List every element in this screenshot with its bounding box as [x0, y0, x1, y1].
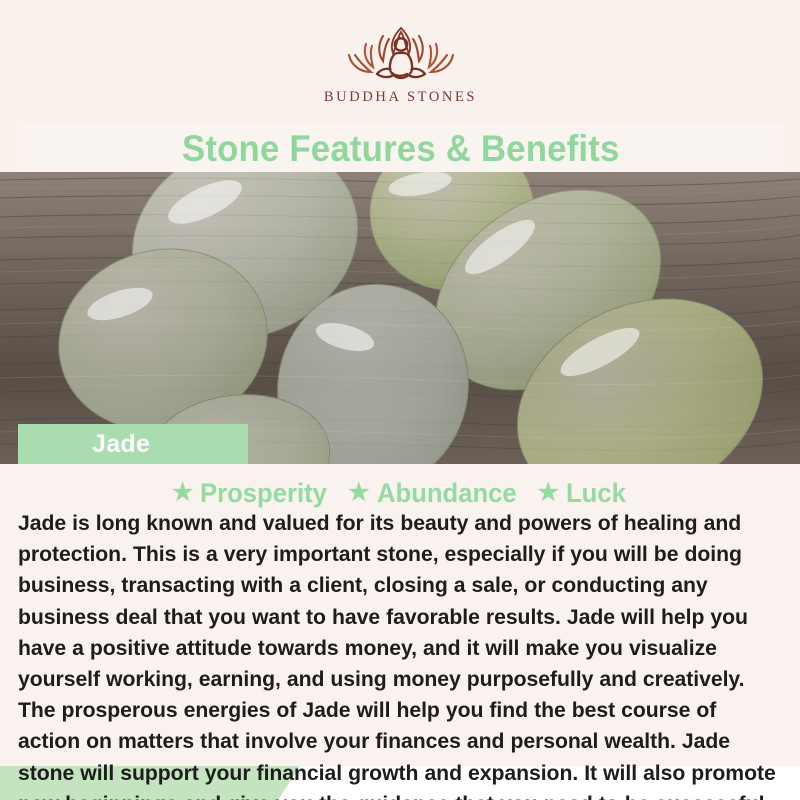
- keyword-list: ★ Prosperity ★ Abundance ★ Luck: [18, 478, 783, 509]
- keyword-label: Luck: [566, 478, 626, 509]
- stone-photo-illustration: [0, 172, 800, 464]
- brand-logo: BUDDHA STONES: [18, 22, 783, 106]
- stone-name-band: Jade: [18, 424, 248, 464]
- stone-description: Jade is long known and valued for its be…: [18, 508, 783, 800]
- card-body: ★ Prosperity ★ Abundance ★ Luck Jade is …: [0, 464, 800, 766]
- star-icon: ★: [538, 481, 560, 505]
- lotus-meditation-icon: [335, 22, 467, 84]
- card-body-surface: ★ Prosperity ★ Abundance ★ Luck Jade is …: [18, 464, 783, 766]
- star-icon: ★: [172, 481, 194, 505]
- keyword-item-luck: ★ Luck: [538, 478, 630, 509]
- keyword-label: Abundance: [377, 478, 517, 509]
- star-icon: ★: [348, 481, 370, 505]
- title-band: Stone Features & Benefits: [18, 124, 783, 172]
- stone-info-card: BUDDHA STONES Stone Features & Benefits …: [0, 0, 800, 800]
- stone-photo: [0, 172, 800, 464]
- brand-name: BUDDHA STONES: [324, 89, 477, 106]
- keyword-label: Prosperity: [200, 478, 327, 509]
- stone-name: Jade: [92, 430, 150, 459]
- keyword-item-prosperity: ★ Prosperity: [172, 478, 334, 509]
- page-title: Stone Features & Benefits: [182, 130, 620, 167]
- keyword-item-abundance: ★ Abundance: [348, 478, 524, 509]
